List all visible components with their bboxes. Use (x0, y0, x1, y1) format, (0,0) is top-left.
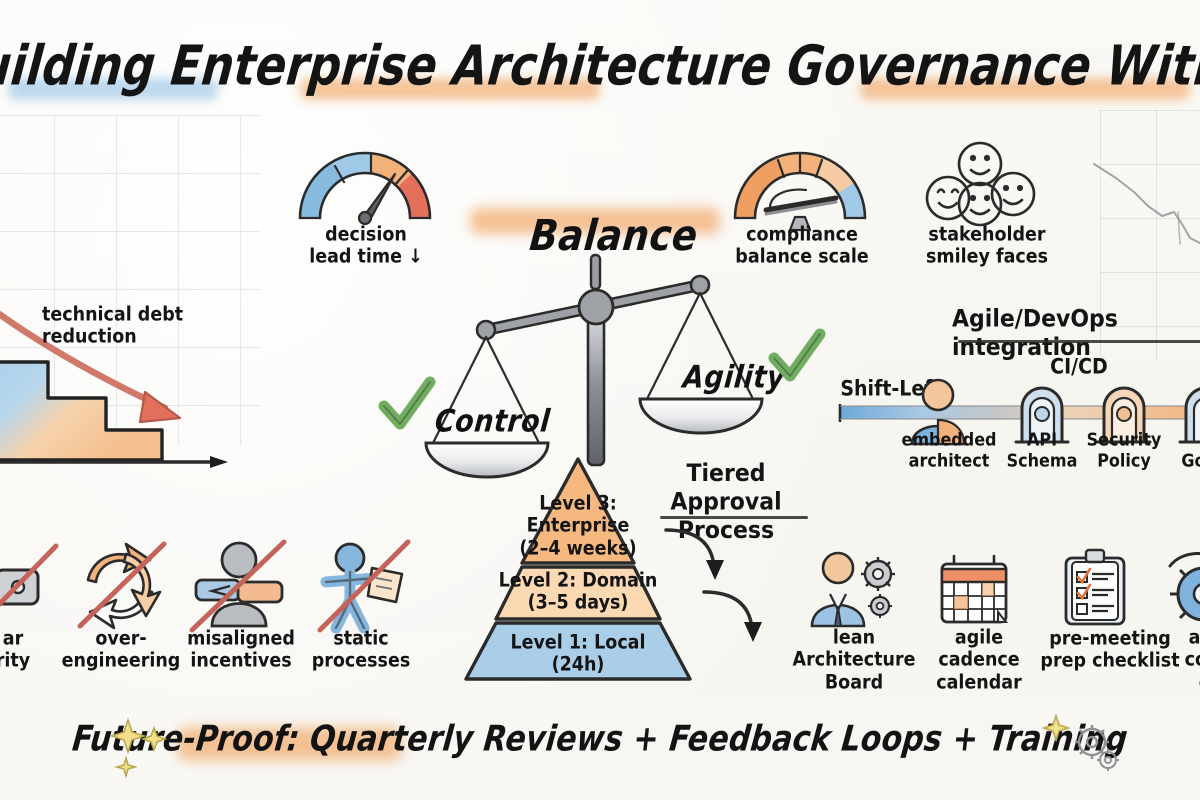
agile-cadence-calendar-label: agile cadence calendar (920, 627, 1038, 694)
lean-architecture-board-icon (806, 548, 902, 632)
over-engineering-icon (70, 540, 170, 632)
security-policy-label: Security Policy (1082, 430, 1166, 471)
static-processes-icon (306, 538, 416, 634)
whiteboard-canvas: uilding Enterprise Architecture Governan… (0, 0, 1200, 800)
misaligned-incentives-icon (184, 538, 294, 634)
pyramid-tier-1-label: Level 1: Local (24h) (478, 632, 678, 677)
anti-pattern-over-engineering-label: over- engineering (56, 628, 186, 673)
sparkle-gears-right-icon (1040, 712, 1120, 774)
technical-debt-reduction-label: technical debt reduction (42, 304, 222, 349)
pyramid-flow-arrows (660, 520, 780, 660)
control-checkmark-icon (378, 378, 438, 438)
stakeholder-smiley-faces-label: stakeholder smiley faces (912, 224, 1062, 269)
sparkles-left-icon (110, 714, 180, 774)
data-governance-label: D Gover (1166, 430, 1200, 471)
anti-pattern-static-processes-label: static processes (298, 628, 424, 673)
page-title: uilding Enterprise Architecture Governan… (0, 38, 1200, 93)
agile-devops-heading-underline (958, 340, 1200, 343)
decision-lead-time-gauge-icon (300, 148, 430, 228)
automated-compliance-gates-icon (1152, 544, 1200, 634)
stakeholder-smiley-faces-icon (918, 142, 1048, 234)
automated-compliance-gates-label: aut com g (1150, 627, 1200, 694)
pre-meeting-prep-checklist-icon (1058, 548, 1136, 632)
lean-architecture-board-label: lean Architecture Board (790, 627, 918, 694)
compliance-balance-scale-icon (735, 148, 865, 228)
balance-heading: Balance (528, 211, 700, 260)
embedded-architect-label: embedded architect (890, 430, 1008, 471)
anti-pattern-misaligned-incentives-label: misaligned incentives (176, 628, 306, 673)
agility-checkmark-icon (768, 330, 828, 390)
tiered-approval-heading-line1: Tiered Approval (670, 460, 781, 516)
agile-cadence-calendar-icon (936, 552, 1014, 630)
pyramid-tier-2-label: Level 2: Domain (3–5 days) (478, 570, 678, 615)
api-schema-label: API Schema (1000, 430, 1084, 471)
unclear-authority-icon (0, 540, 60, 630)
footer-text: Future-Proof: Quarterly Reviews + Feedba… (0, 719, 1200, 760)
agile-devops-heading: Agile/DevOps integration (952, 305, 1200, 361)
control-label: Control (433, 404, 551, 440)
tiered-approval-heading-underline (660, 516, 808, 519)
cicd-label: CI/CD (1024, 355, 1134, 379)
